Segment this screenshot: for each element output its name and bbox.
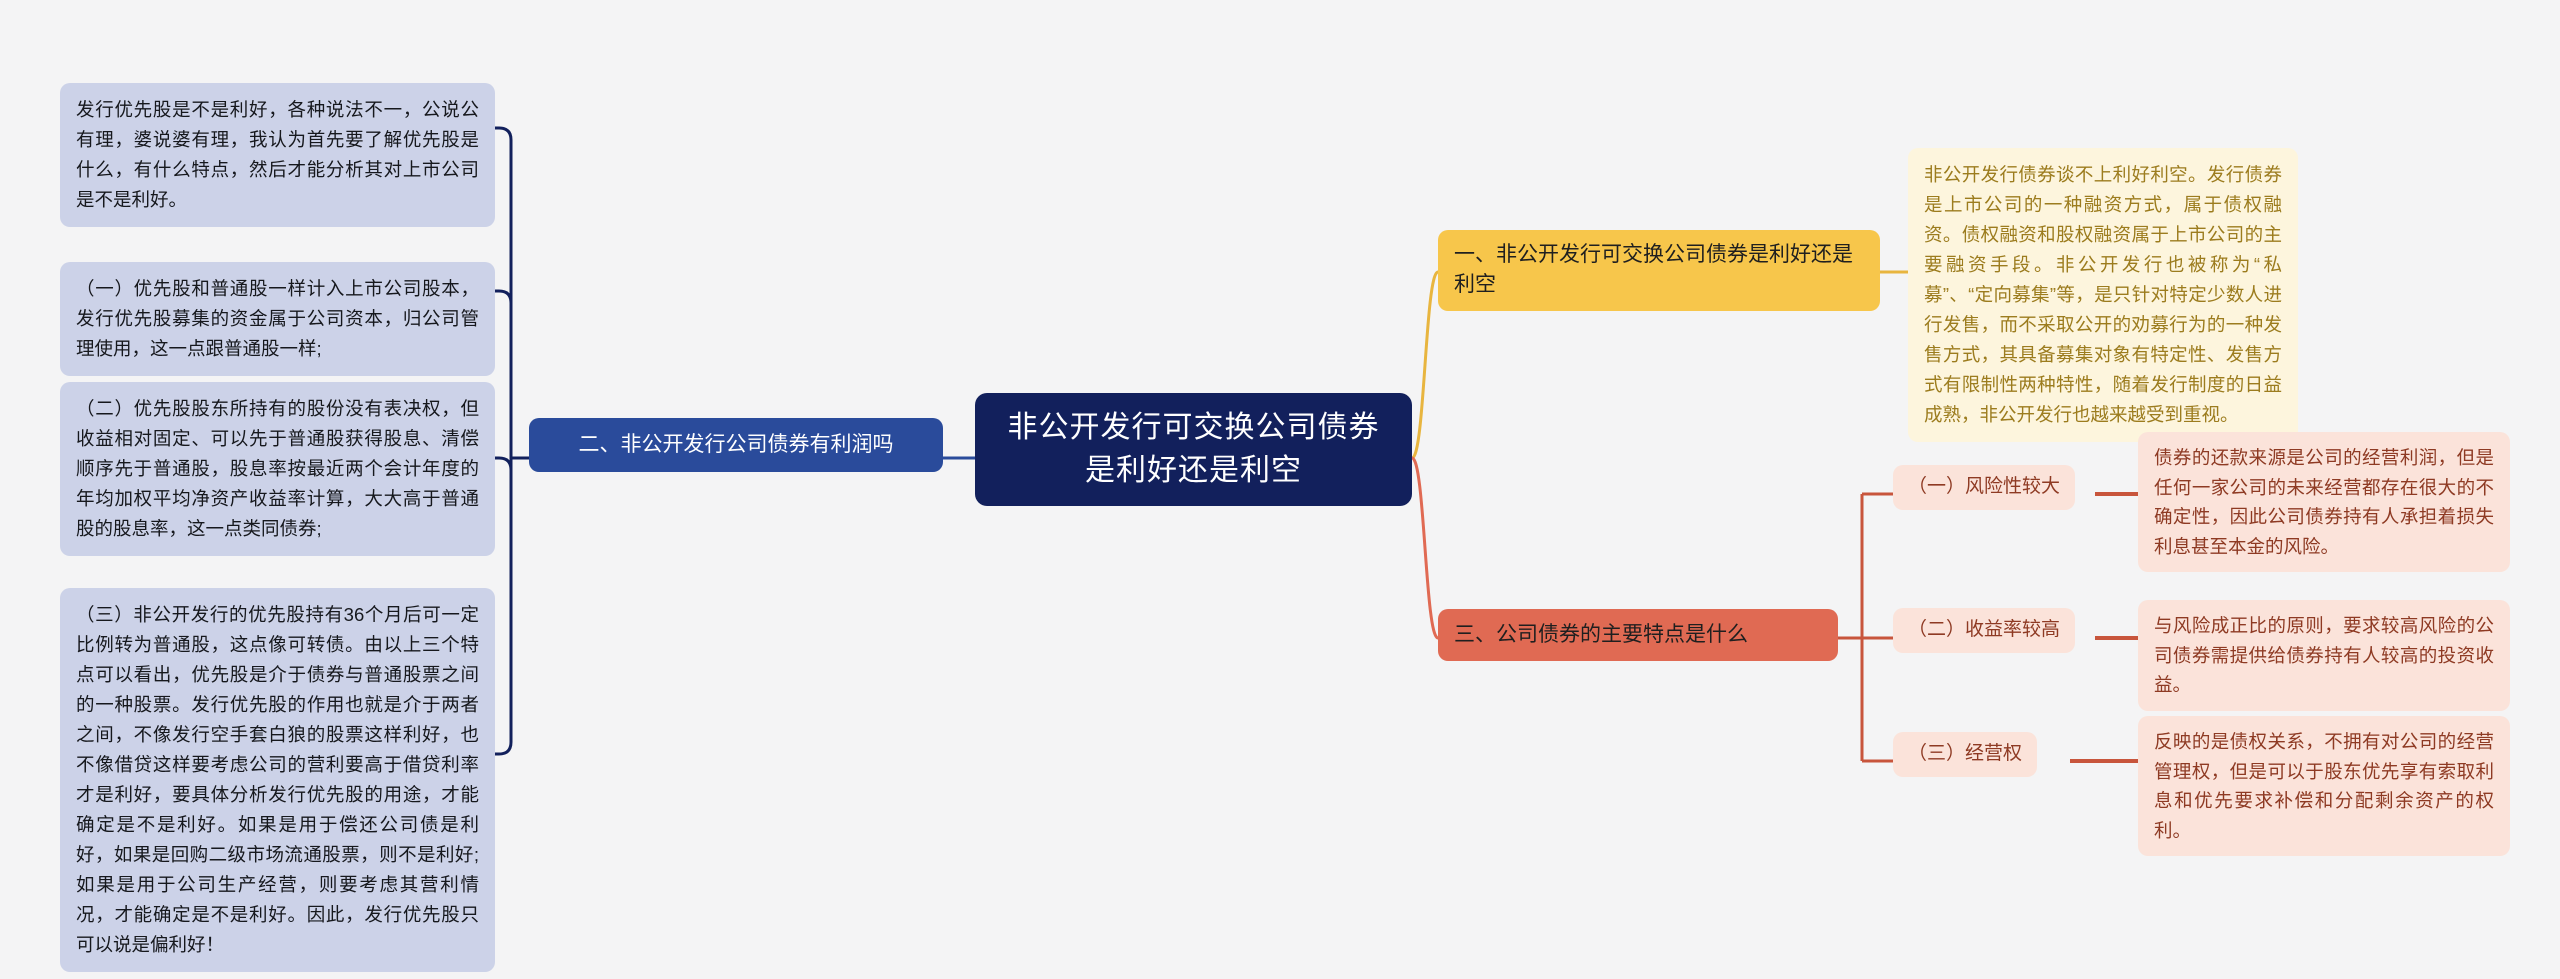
- link-branch2-leaf3: [495, 458, 511, 470]
- branch-3-sub-3[interactable]: （三）经营权: [1893, 732, 2037, 777]
- branch-2-leaf-4[interactable]: （三）非公开发行的优先股持有36个月后可一定比例转为普通股，这点像可转债。由以上…: [60, 588, 495, 972]
- branch-3-sub-1[interactable]: （一）风险性较大: [1893, 465, 2075, 510]
- branch-node-3[interactable]: 三、公司债券的主要特点是什么: [1438, 609, 1838, 661]
- branch-3-sub-3-detail[interactable]: 反映的是债权关系，不拥有对公司的经营管理权，但是可以于股东优先享有索取利息和优先…: [2138, 716, 2510, 856]
- link-root-branch1: [1412, 272, 1438, 458]
- branch-2-leaf-2[interactable]: （一）优先股和普通股一样计入上市公司股本，发行优先股募集的资金属于公司资本，归公…: [60, 262, 495, 376]
- branch-2-leaf-3[interactable]: （二）优先股股东所持有的股份没有表决权，但收益相对固定、可以先于普通股获得股息、…: [60, 382, 495, 556]
- branch-1-detail[interactable]: 非公开发行债券谈不上利好利空。发行债券是上市公司的一种融资方式，属于债权融资。债…: [1908, 148, 2298, 442]
- branch-node-1[interactable]: 一、非公开发行可交换公司债券是利好还是利空: [1438, 230, 1880, 311]
- branch-3-sub-2[interactable]: （二）收益率较高: [1893, 608, 2075, 653]
- link-branch2-leaf1: [495, 128, 511, 458]
- link-branch2-leaf4: [495, 458, 511, 754]
- link-branch2-leaf2: [495, 291, 511, 458]
- root-node[interactable]: 非公开发行可交换公司债券是利好还是利空: [975, 393, 1412, 506]
- branch-3-sub-2-detail[interactable]: 与风险成正比的原则，要求较高风险的公司债券需提供给债券持有人较高的投资收益。: [2138, 600, 2510, 711]
- branch-2-leaf-1[interactable]: 发行优先股是不是利好，各种说法不一，公说公有理，婆说婆有理，我认为首先要了解优先…: [60, 83, 495, 227]
- link-root-branch3: [1412, 458, 1438, 638]
- branch-3-sub-1-detail[interactable]: 债券的还款来源是公司的经营利润，但是任何一家公司的未来经营都存在很大的不确定性，…: [2138, 432, 2510, 572]
- branch-node-2[interactable]: 二、非公开发行公司债券有利润吗: [529, 418, 943, 472]
- mindmap-canvas: 非公开发行可交换公司债券是利好还是利空 一、非公开发行可交换公司债券是利好还是利…: [0, 0, 2560, 979]
